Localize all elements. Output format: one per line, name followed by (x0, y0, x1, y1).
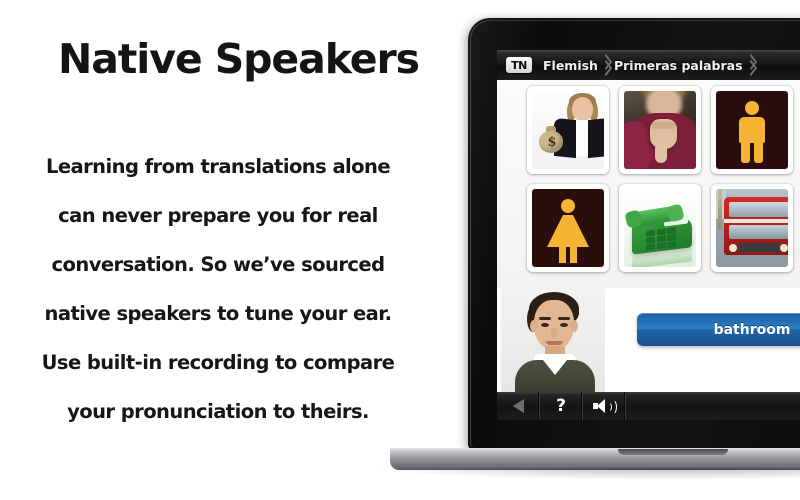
business-woman-with-money-bag-image: $ (532, 91, 604, 169)
back-arrow-icon (513, 399, 524, 413)
womens-restroom-sign-image (532, 189, 604, 267)
body-line: Learning from translations alone (18, 142, 418, 191)
answer-button[interactable]: bathroom (637, 313, 800, 346)
help-button[interactable]: ? (540, 392, 583, 420)
marketing-body: Learning from translations alone can nev… (18, 142, 418, 436)
body-line: Use built-in recording to compare (18, 338, 418, 387)
promo-slide: Native Speakers Learning from translatio… (0, 0, 800, 500)
laptop-mockup: TN Flemish Primeras palabras (468, 18, 800, 450)
back-button[interactable] (497, 392, 540, 420)
picture-tile-bus[interactable] (711, 184, 793, 272)
thumbs-down-gesture-image (624, 91, 696, 169)
red-double-decker-bus-image (716, 189, 788, 267)
breadcrumb-item-language[interactable]: Flemish (543, 58, 598, 73)
app-bottom-toolbar: ? (497, 392, 800, 420)
laptop-screen: TN Flemish Primeras palabras (497, 50, 800, 420)
picture-tile-telephone[interactable] (619, 184, 701, 272)
question-mark-icon: ? (556, 398, 566, 415)
body-line: can never prepare you for real (18, 191, 418, 240)
page-title: Native Speakers (0, 38, 430, 81)
marketing-copy-panel: Native Speakers Learning from translatio… (0, 0, 450, 500)
body-line: conversation. So we’ve sourced (18, 240, 418, 289)
laptop-base (390, 450, 800, 470)
chevron-right-icon (598, 50, 614, 80)
picture-tile-money[interactable]: $ (527, 86, 609, 174)
native-speaker-avatar (501, 288, 605, 392)
breadcrumb-item-lesson[interactable]: Primeras palabras (614, 58, 743, 73)
volume-button[interactable] (583, 392, 626, 420)
picture-grid: $ (527, 86, 800, 272)
green-telephone-image (624, 189, 696, 267)
speaker-icon (593, 398, 615, 414)
laptop-shadow (378, 468, 800, 480)
picture-tile-mens-room[interactable] (711, 86, 793, 174)
laptop-base-notch (618, 449, 728, 455)
chevron-right-icon (743, 50, 759, 80)
mens-restroom-sign-image (716, 91, 788, 169)
lesson-content: $ (497, 80, 800, 392)
app-topbar: TN Flemish Primeras palabras (497, 50, 800, 80)
picture-tile-thumbs-down[interactable] (619, 86, 701, 174)
body-line: native speakers to tune your ear. (18, 289, 418, 338)
app-logo[interactable]: TN (506, 57, 532, 73)
picture-tile-womens-room[interactable] (527, 184, 609, 272)
body-line: your pronunciation to theirs. (18, 387, 418, 436)
answer-row: bathroom (497, 288, 800, 392)
